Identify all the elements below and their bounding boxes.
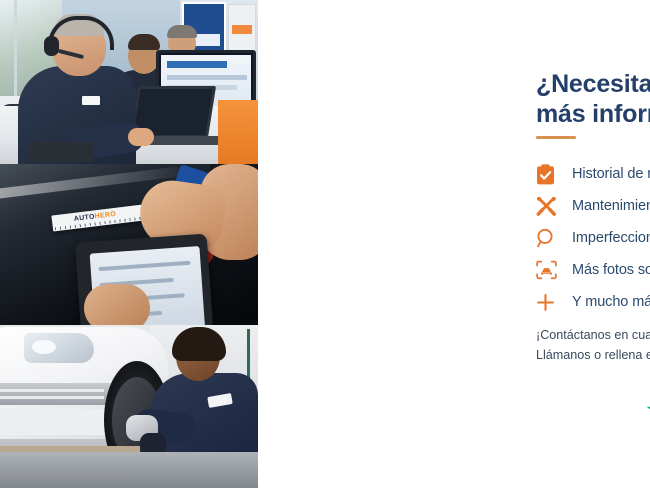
photo-column: AUTOHERO [0,0,258,488]
plus-icon [536,293,572,312]
clipboard-check-icon [536,164,572,185]
agent-name-badge [82,96,100,105]
car-headlight [24,333,94,363]
car-scan-icon [536,260,572,280]
info-promo-card: AUTOHERO [0,0,650,488]
feature-item-maintenance-history: Historial de mantenimientos [536,158,650,190]
feature-item-imperfections: Imperfecciones [536,222,650,254]
feature-item-maintenance-done: Mantenimiento realizado [536,190,650,222]
feature-label: Historial de mantenimientos [572,166,650,182]
feature-label: Más fotos sobre el coche [572,262,650,278]
page-title: ¿Necesitas más información? [536,69,650,130]
desk-tablet [30,142,94,162]
feature-label: Y mucho más [572,294,650,310]
mechanic-wheel-photo [0,325,258,488]
contact-text: ¡Contáctanos en cualquier momento para m… [536,325,650,366]
feature-item-more-photos: Más fotos sobre el coche [536,254,650,286]
car-inspection-ruler-photo: AUTOHERO [0,164,258,325]
contact-line-1: ¡Contáctanos en cualquier momento para m… [536,325,650,345]
orange-decor-front [218,100,258,164]
monitor-screen-bar [167,61,227,68]
page-title-line-1: ¿Necesitas [536,70,650,98]
background-person-hair [167,25,197,38]
trustpilot-logo[interactable]: Trustpilot [646,398,650,426]
feature-list: Historial de mantenimientos Mantenimient… [536,158,650,318]
tools-icon [536,196,572,217]
workshop-floor [0,452,258,488]
inspector-second-hand [84,284,150,325]
feature-item-much-more: Y mucho más [536,286,650,318]
feature-label: Mantenimiento realizado [572,198,650,214]
car-grille [0,383,114,405]
monitor-screen-row [167,75,247,80]
content-panel: ¿Necesitas más información? Estamos enca… [258,0,650,488]
contact-line-2: Llámanos o rellena el formulario de cont… [536,345,650,365]
trustpilot-rating: Trustpilot Excelente [646,390,650,452]
agent-hand [128,128,154,146]
second-agent-hair [128,34,160,50]
page-title-line-2: más información? [536,99,650,130]
tablet-screen-row [99,261,191,271]
call-center-agent-photo [0,0,258,164]
ruler-brand-text: AUTOHERO [74,211,117,223]
headset-earcup [44,36,59,56]
title-divider [536,136,576,139]
ruler-brand-part-2: HERO [94,211,116,221]
ruler-brand-part-1: AUTO [74,213,96,222]
feature-label: Imperfecciones [572,230,650,246]
trustpilot-star-icon [646,398,650,426]
magnifier-icon [536,228,572,248]
